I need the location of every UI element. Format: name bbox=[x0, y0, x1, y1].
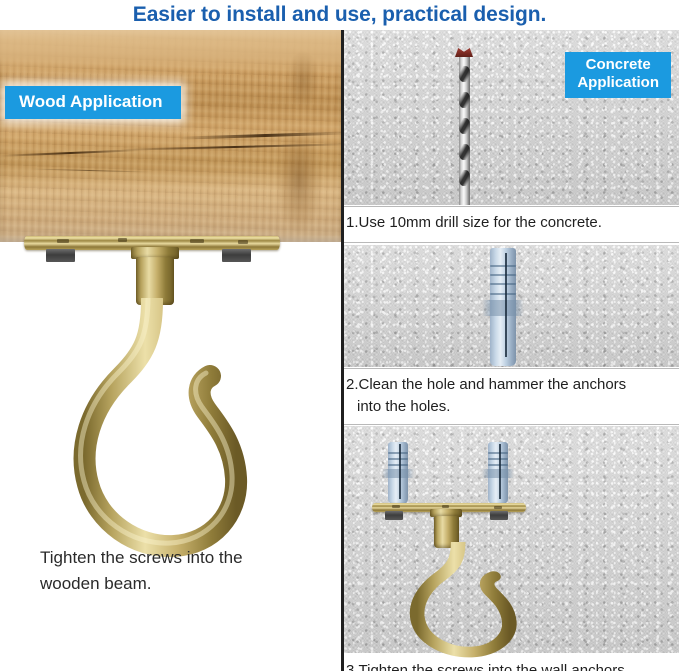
wall-anchor-wing bbox=[482, 469, 514, 478]
hook-screw-nut bbox=[385, 511, 403, 520]
wood-application-badge-label: Wood Application bbox=[19, 92, 163, 111]
hook-screw-nut bbox=[222, 249, 251, 262]
plastic-wall-anchor bbox=[388, 442, 408, 504]
wood-grain-crack bbox=[30, 168, 150, 172]
drill-bit-flute bbox=[459, 92, 470, 108]
brass-hook-graphic bbox=[40, 298, 270, 564]
panel-divider-horizontal bbox=[344, 424, 679, 425]
wood-grain-crack bbox=[0, 149, 140, 157]
product-instruction-image: Easier to install and use, practical des… bbox=[0, 0, 679, 671]
wood-step-caption: Tighten the screws into the wooden beam. bbox=[40, 545, 330, 597]
plate-speck bbox=[190, 239, 204, 243]
concrete-step-1-caption: 1.Use 10mm drill size for the concrete. bbox=[346, 212, 679, 234]
drill-bit-flute bbox=[459, 144, 470, 160]
masonry-drill-bit bbox=[454, 30, 474, 205]
hook-screw-nut bbox=[46, 249, 75, 262]
photo-area: Wood Application bbox=[0, 30, 679, 671]
concrete-application-badge-label-line2: Application bbox=[577, 74, 659, 92]
concrete-step-2-caption-line1: 2.Clean the hole and hammer the anchors bbox=[346, 374, 679, 396]
plate-speck bbox=[57, 239, 69, 243]
plate-speck bbox=[442, 505, 449, 508]
wall-anchor-rib bbox=[488, 464, 508, 466]
wall-anchor-slot bbox=[399, 444, 401, 499]
wood-step-caption-line1: Tighten the screws into the bbox=[40, 545, 330, 571]
wood-step-caption-line2: wooden beam. bbox=[40, 571, 330, 597]
concrete-application-badge-label-line1: Concrete bbox=[577, 56, 659, 74]
concrete-step-2-caption: 2.Clean the hole and hammer the anchors … bbox=[346, 374, 679, 418]
drill-bit-flute bbox=[459, 66, 470, 82]
panel-divider-horizontal bbox=[344, 368, 679, 369]
wall-anchor-slot bbox=[499, 444, 501, 499]
wood-grain-crack bbox=[180, 131, 341, 139]
panel-divider-horizontal bbox=[344, 242, 679, 243]
concrete-application-badge: Concrete Application bbox=[565, 52, 671, 98]
wood-knot-decor bbox=[286, 50, 320, 110]
wall-anchor-rib bbox=[490, 274, 516, 276]
plate-speck bbox=[238, 240, 248, 244]
wall-anchor-rib bbox=[490, 293, 516, 295]
panel-divider-horizontal bbox=[344, 206, 679, 207]
plate-speck bbox=[118, 238, 127, 242]
plastic-wall-anchor bbox=[490, 248, 516, 366]
wall-anchor-wing bbox=[382, 469, 414, 478]
page-title: Easier to install and use, practical des… bbox=[0, 0, 679, 30]
plastic-wall-anchor bbox=[488, 442, 508, 504]
concrete-application-panel: 1.Use 10mm drill size for the concrete. … bbox=[344, 30, 679, 671]
wall-anchor-rib bbox=[488, 458, 508, 460]
drill-bit-flute bbox=[459, 118, 470, 134]
wall-anchor-rib bbox=[388, 464, 408, 466]
plate-speck bbox=[494, 506, 502, 509]
wood-application-badge: Wood Application bbox=[5, 86, 181, 119]
wood-knot-decor bbox=[276, 126, 322, 234]
wall-anchor-wing bbox=[482, 300, 524, 317]
wall-anchor-slot bbox=[505, 253, 507, 357]
wall-anchor-rib bbox=[388, 452, 408, 454]
brass-hook-graphic bbox=[390, 542, 530, 660]
drill-bit-flute bbox=[459, 170, 470, 186]
wall-anchor-rib bbox=[490, 265, 516, 267]
concrete-step-3-caption: 3.Tighten the screws into the wall ancho… bbox=[346, 660, 679, 671]
wooden-beam-image bbox=[0, 30, 341, 242]
wall-anchor-rib bbox=[388, 458, 408, 460]
wood-application-panel: Wood Application bbox=[0, 30, 341, 671]
wall-anchor-rib bbox=[488, 452, 508, 454]
hook-screw-nut bbox=[490, 511, 508, 520]
concrete-step-2-caption-line2: into the holes. bbox=[346, 396, 679, 418]
plate-speck bbox=[392, 505, 400, 508]
drill-bit-carbide-tip bbox=[455, 48, 473, 57]
